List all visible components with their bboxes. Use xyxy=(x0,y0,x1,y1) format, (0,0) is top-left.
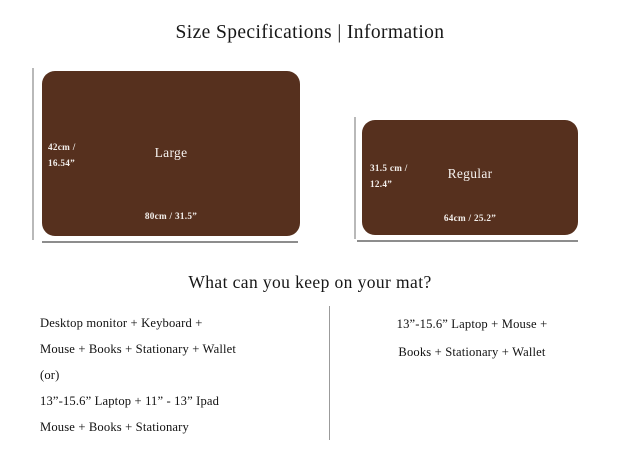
usage-column-large: Desktop monitor + Keyboard + Mouse + Boo… xyxy=(40,310,310,440)
regular-mat-height-guide-line xyxy=(354,117,356,239)
page-title: Size Specifications | Information xyxy=(0,22,620,44)
usage-line: Desktop monitor + Keyboard + xyxy=(40,310,310,336)
usage-section-heading: What can you keep on your mat? xyxy=(0,272,620,293)
usage-columns: Desktop monitor + Keyboard + Mouse + Boo… xyxy=(0,310,620,450)
usage-line: (or) xyxy=(40,362,310,388)
regular-mat-width-guide-line xyxy=(357,240,578,242)
usage-line: 13”-15.6” Laptop + Mouse + xyxy=(348,310,596,338)
large-mat-height-guide-line xyxy=(32,68,34,240)
usage-line: Mouse + Books + Stationary + Wallet xyxy=(40,336,310,362)
large-mat-width-guide-line xyxy=(42,241,298,243)
usage-line: Books + Stationary + Wallet xyxy=(348,338,596,366)
regular-mat-width-label: 64cm / 25.2” xyxy=(362,213,578,223)
large-mat-name-label: Large xyxy=(42,145,300,161)
large-mat-width-label: 80cm / 31.5” xyxy=(42,211,300,221)
size-specifications-infographic: Size Specifications | Information 42cm /… xyxy=(0,0,620,465)
usage-line: Mouse + Books + Stationary xyxy=(40,414,310,440)
usage-column-regular: 13”-15.6” Laptop + Mouse + Books + Stati… xyxy=(348,310,596,366)
usage-line: 13”-15.6” Laptop + 11” - 13” Ipad xyxy=(40,388,310,414)
regular-mat-name-label: Regular xyxy=(362,166,578,182)
